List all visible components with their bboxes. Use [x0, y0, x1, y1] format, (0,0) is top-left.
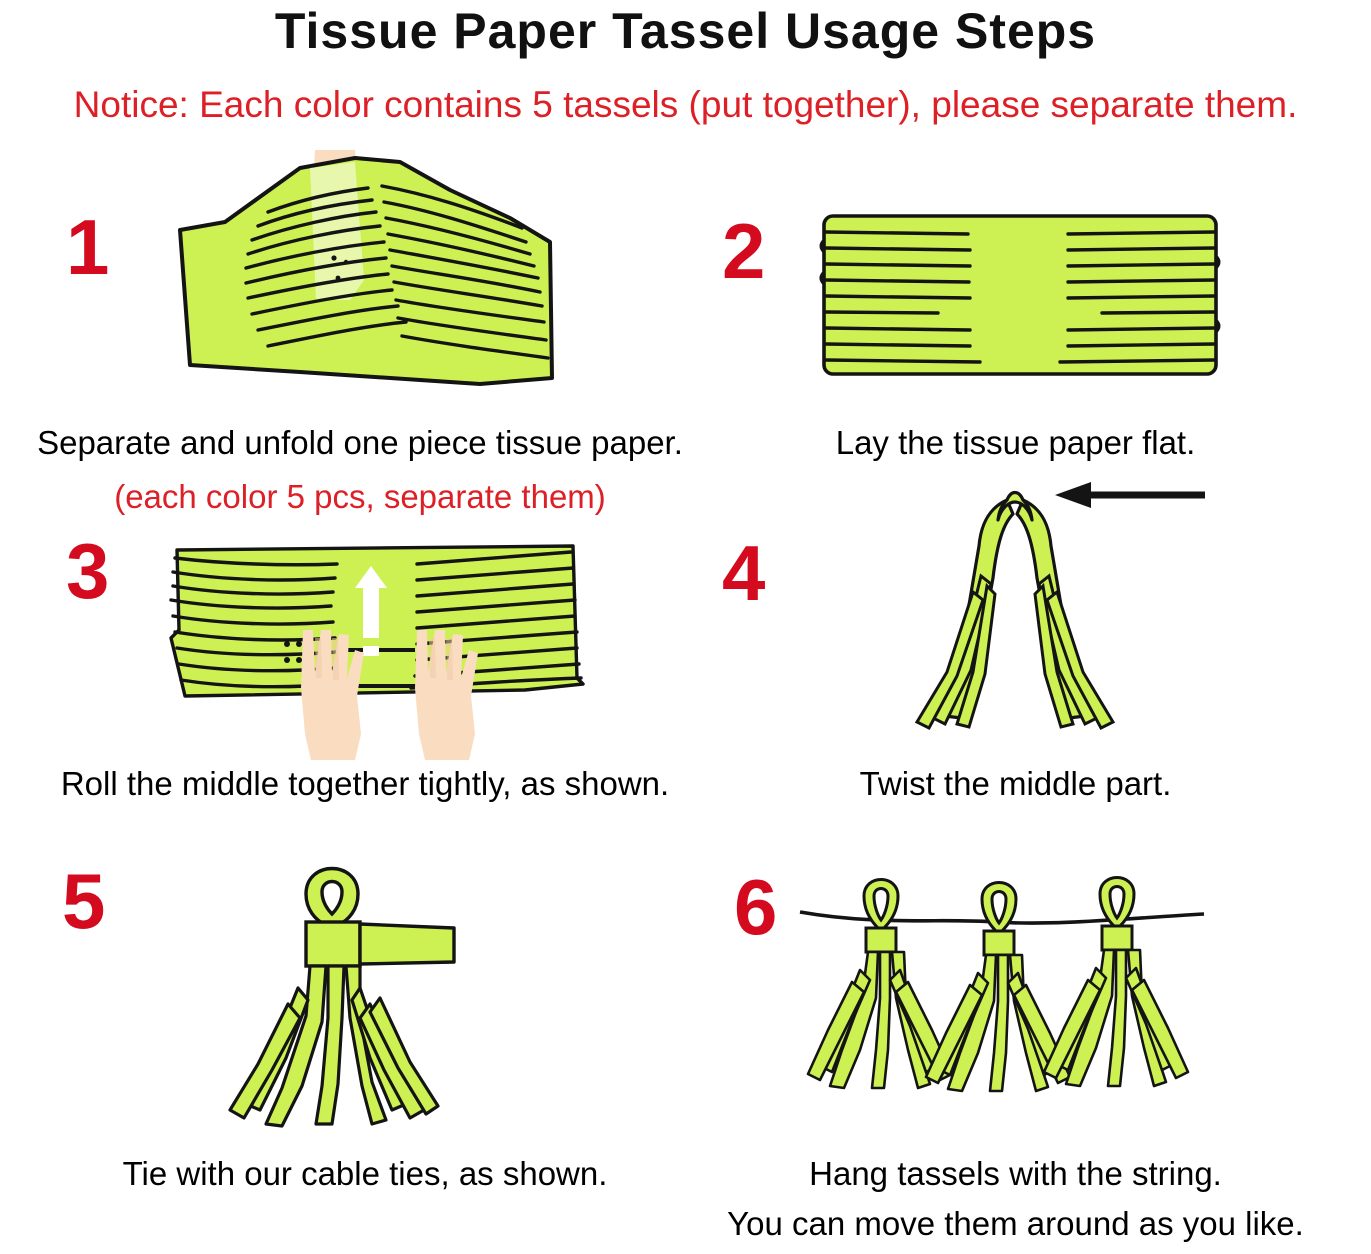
step-number-3: 3: [66, 532, 109, 610]
step-number-1: 1: [66, 208, 109, 286]
page-title: Tissue Paper Tassel Usage Steps: [0, 2, 1371, 60]
step-1-subcaption: (each color 5 pcs, separate them): [0, 478, 720, 516]
step-2-illustration: [820, 212, 1220, 378]
step-number-5: 5: [62, 862, 105, 940]
step-4-caption: Twist the middle part.: [660, 765, 1371, 803]
step-3-illustration: [165, 538, 585, 753]
pointer-arrow: [1055, 482, 1205, 508]
step-3-caption: Roll the middle together tightly, as sho…: [0, 765, 730, 803]
hanging-tassel-3: [1044, 878, 1188, 1087]
step-6-illustration: [790, 880, 1210, 1130]
step-number-6: 6: [734, 868, 777, 946]
step-1-caption: Separate and unfold one piece tissue pap…: [0, 424, 720, 462]
step-6-subcaption: You can move them around as you like.: [660, 1205, 1371, 1243]
step-5-caption: Tie with our cable ties, as shown.: [0, 1155, 730, 1193]
step-4-illustration: [895, 466, 1225, 746]
notice-text: Notice: Each color contains 5 tassels (p…: [0, 84, 1371, 126]
step-number-4: 4: [722, 534, 765, 612]
hanging-tassel-1: [808, 880, 952, 1089]
step-number-2: 2: [722, 212, 765, 290]
step-2-caption: Lay the tissue paper flat.: [660, 424, 1371, 462]
step-6-caption: Hang tassels with the string.: [660, 1155, 1371, 1193]
step-1-illustration: [150, 150, 580, 410]
instruction-sheet: Tissue Paper Tassel Usage Steps Notice: …: [0, 0, 1371, 1254]
step-5-illustration: [210, 838, 540, 1128]
